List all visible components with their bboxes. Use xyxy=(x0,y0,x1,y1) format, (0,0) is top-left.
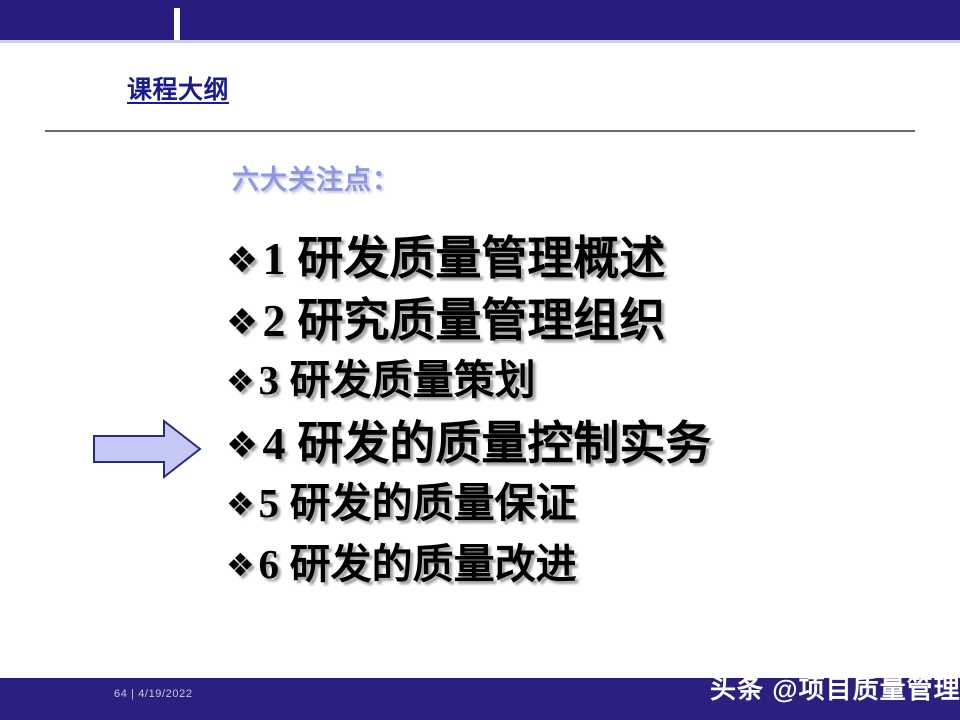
diamond-bullet-icon: ❖ xyxy=(226,305,258,341)
footer-page-meta: 64 | 4/19/2022 xyxy=(114,688,193,700)
outline-list: ❖1研发质量管理概述 ❖2研究质量管理组织 ❖3研发质量策划 ❖4研发的质量控制… xyxy=(226,236,926,605)
diamond-bullet-icon: ❖ xyxy=(226,428,258,464)
slide-canvas: 课程大纲 六大关注点： ❖1研发质量管理概述 ❖2研究质量管理组织 ❖3研发质量… xyxy=(0,0,960,720)
list-item: ❖5研发的质量保证 xyxy=(226,483,926,524)
title-divider xyxy=(45,130,915,132)
list-item: ❖6研发的质量改进 xyxy=(226,544,926,585)
list-item-number: 5 xyxy=(259,483,280,524)
list-item-label: 研发质量策划 xyxy=(290,360,536,401)
page-title: 课程大纲 xyxy=(127,70,229,106)
diamond-bullet-icon: ❖ xyxy=(226,549,255,581)
list-item-number: 4 xyxy=(262,421,285,467)
list-item-label: 研究质量管理组织 xyxy=(297,298,665,344)
diamond-bullet-icon: ❖ xyxy=(226,365,255,397)
list-item-label: 研发的质量控制实务 xyxy=(297,421,711,467)
diamond-bullet-icon: ❖ xyxy=(226,243,258,279)
section-heading: 六大关注点： xyxy=(232,158,400,197)
list-item-label: 研发的质量改进 xyxy=(290,544,577,585)
list-item-number: 2 xyxy=(262,298,285,344)
top-header-underline xyxy=(0,40,960,43)
text-caret-icon xyxy=(174,8,180,40)
list-item-label: 研发质量管理概述 xyxy=(297,236,665,282)
list-item-number: 1 xyxy=(262,236,285,282)
top-header-bar xyxy=(0,0,960,40)
list-item: ❖4研发的质量控制实务 xyxy=(226,421,926,467)
list-item: ❖3研发质量策划 xyxy=(226,360,926,401)
diamond-bullet-icon: ❖ xyxy=(226,488,255,520)
list-item-number: 3 xyxy=(259,360,280,401)
watermark-label: 头条 @项目质量管理 xyxy=(710,669,960,706)
list-item: ❖1研发质量管理概述 xyxy=(226,236,926,282)
list-item-number: 6 xyxy=(259,544,280,585)
list-item: ❖2研究质量管理组织 xyxy=(226,298,926,344)
list-item-label: 研发的质量保证 xyxy=(290,483,577,524)
right-arrow-shape xyxy=(92,418,202,480)
